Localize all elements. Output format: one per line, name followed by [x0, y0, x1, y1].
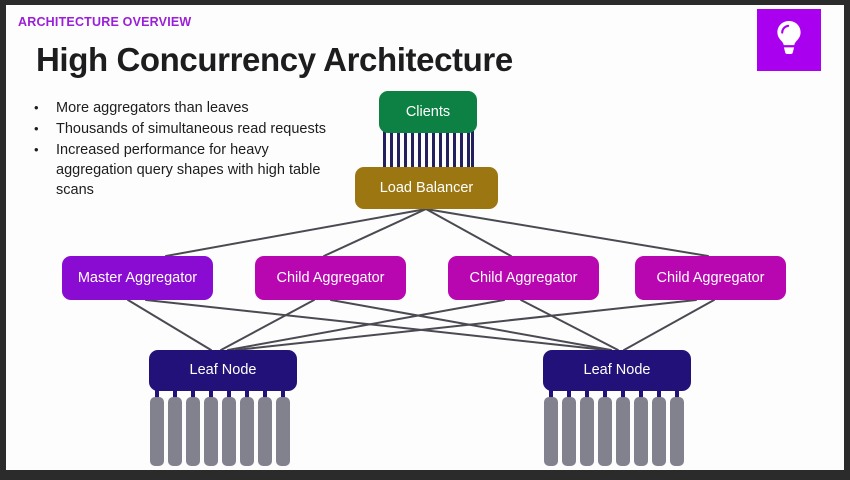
bullet-dot-icon: •	[34, 140, 56, 160]
pipe-line	[439, 131, 442, 169]
pipe-line	[418, 131, 421, 169]
bullet-dot-icon: •	[34, 119, 56, 139]
pipe-line	[460, 131, 463, 169]
pipe-line	[453, 131, 456, 169]
edge-child-aggregator-3-leaf-2	[624, 300, 714, 350]
node-child-aggregator-3[interactable]: Child Aggregator	[635, 256, 786, 300]
node-child-aggregator-2[interactable]: Child Aggregator	[448, 256, 599, 300]
slide-eyebrow-label: ARCHITECTURE OVERVIEW	[18, 15, 191, 29]
edge-master-aggregator-leaf-1	[128, 300, 211, 350]
disk-bar	[616, 397, 630, 466]
node-child-aggregator-1[interactable]: Child Aggregator	[255, 256, 406, 300]
node-clients[interactable]: Clients	[379, 91, 477, 133]
pipe-line	[397, 131, 400, 169]
node-label: Child Aggregator	[469, 270, 577, 287]
slide-frame: ARCHITECTURE OVERVIEW High Concurrency A…	[0, 0, 850, 480]
node-label: Child Aggregator	[276, 270, 384, 287]
edge-balancer-child-aggregator-3	[426, 209, 708, 256]
list-item: • Increased performance for heavy aggreg…	[34, 140, 334, 200]
disk-bar	[544, 397, 558, 466]
leaf-node-group-left: Leaf Node	[149, 350, 297, 468]
edge-child-aggregator-2-leaf-2	[521, 300, 618, 350]
list-item: • Thousands of simultaneous read request…	[34, 119, 334, 139]
disk-bar	[258, 397, 272, 466]
page-title: High Concurrency Architecture	[36, 41, 513, 79]
disk-bar	[670, 397, 684, 466]
disk-bar	[652, 397, 666, 466]
edge-child-aggregator-1-leaf-1	[221, 300, 314, 350]
list-item-text: Increased performance for heavy aggregat…	[56, 140, 334, 200]
disk-bar	[276, 397, 290, 466]
pipe-line	[446, 131, 449, 169]
node-leaf-right[interactable]: Leaf Node	[543, 350, 691, 391]
pipe-line	[467, 131, 470, 169]
list-item-text: More aggregators than leaves	[56, 98, 334, 118]
edge-balancer-child-aggregator-2	[426, 209, 511, 256]
slide-canvas: ARCHITECTURE OVERVIEW High Concurrency A…	[6, 5, 844, 470]
disk-bar	[562, 397, 576, 466]
edge-child-aggregator-2-leaf-1	[228, 300, 504, 350]
disk-bar	[580, 397, 594, 466]
edge-child-aggregator-3-leaf-1	[236, 300, 696, 350]
disk-bar	[240, 397, 254, 466]
disk-bar	[186, 397, 200, 466]
leaf-node-group-right: Leaf Node	[543, 350, 691, 468]
disk-bar	[150, 397, 164, 466]
node-label: Leaf Node	[190, 362, 257, 379]
edge-balancer-child-aggregator-1	[324, 209, 426, 256]
node-label: Master Aggregator	[78, 270, 197, 287]
pipe-line	[411, 131, 414, 169]
node-label: Load Balancer	[380, 180, 474, 197]
disk-bar	[634, 397, 648, 466]
pipe-line	[404, 131, 407, 169]
edge-master-aggregator-leaf-2	[146, 300, 606, 350]
disk-bar	[222, 397, 236, 466]
disk-bar	[598, 397, 612, 466]
pipe-line	[432, 131, 435, 169]
node-load-balancer[interactable]: Load Balancer	[355, 167, 498, 209]
pipe-line	[425, 131, 428, 169]
node-label: Child Aggregator	[656, 270, 764, 287]
bullet-dot-icon: •	[34, 98, 56, 118]
list-item-text: Thousands of simultaneous read requests	[56, 119, 334, 139]
bullet-list: • More aggregators than leaves • Thousan…	[34, 98, 334, 201]
list-item: • More aggregators than leaves	[34, 98, 334, 118]
node-master-aggregator[interactable]: Master Aggregator	[62, 256, 213, 300]
edge-child-aggregator-1-leaf-2	[331, 300, 611, 350]
node-label: Leaf Node	[584, 362, 651, 379]
disk-bar	[168, 397, 182, 466]
node-leaf-left[interactable]: Leaf Node	[149, 350, 297, 391]
lightbulb-badge	[757, 9, 821, 71]
node-label: Clients	[406, 104, 450, 121]
clients-balancer-pipe-band	[382, 131, 474, 169]
lightbulb-icon	[774, 19, 804, 62]
pipe-line	[390, 131, 393, 169]
pipe-line	[383, 131, 386, 169]
edge-balancer-master-aggregator	[166, 209, 426, 256]
pipe-line	[471, 131, 474, 169]
disk-bar	[204, 397, 218, 466]
